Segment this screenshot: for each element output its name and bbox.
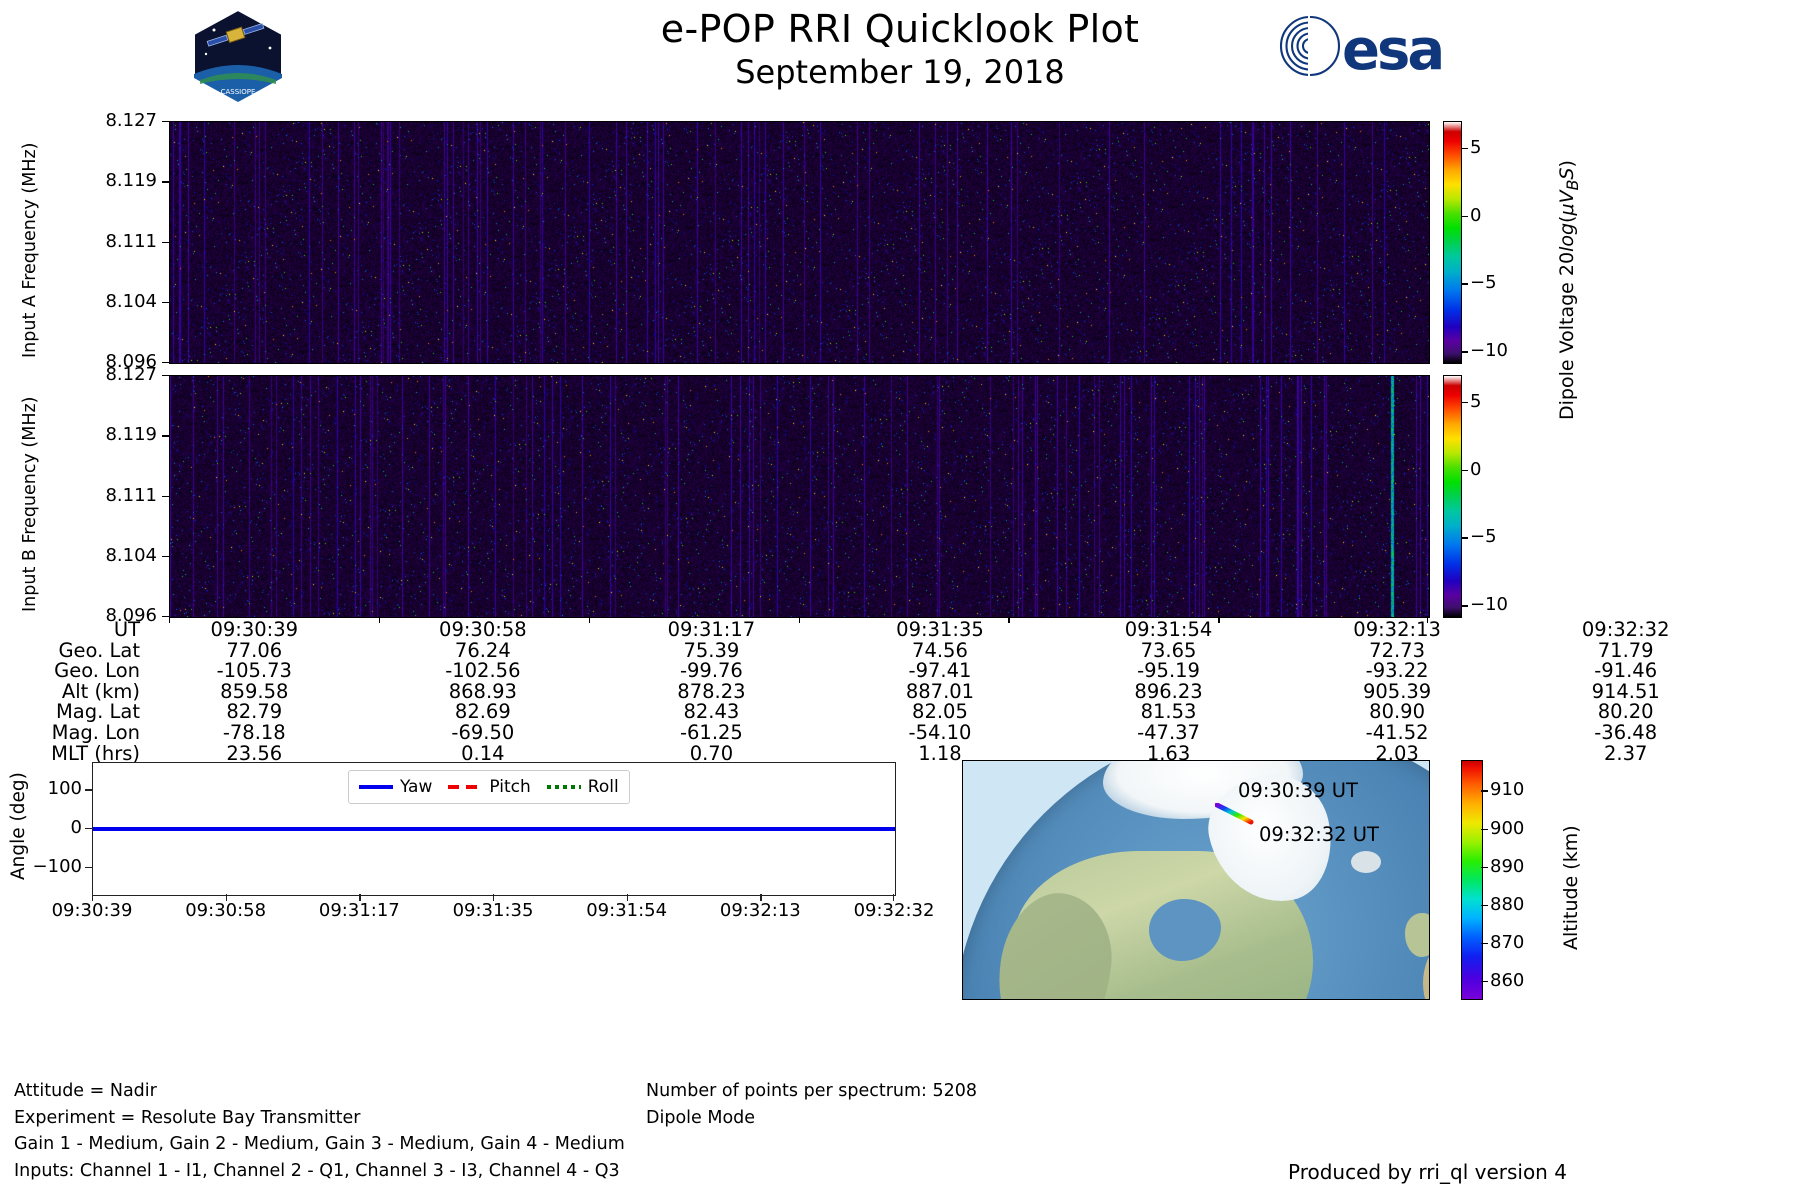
ephemeris-row-label: Mag. Lat [0,702,140,723]
ephemeris-cell: 914.51 [1511,682,1740,703]
ephemeris-cell: -102.56 [369,661,598,682]
voltage-colorbar-a [1443,121,1462,364]
iceland-landmass [1351,851,1381,873]
ephemeris-cell: 09:32:32 [1511,620,1740,641]
legend-label: Roll [588,777,619,797]
footer-produced-by: Produced by rri_ql version 4 [1288,1160,1567,1184]
y-tick-mark [162,616,169,617]
altitude-tick-label: 890 [1490,856,1524,877]
esa-wordmark: esa [1342,18,1442,83]
ephemeris-row-label: Geo. Lat [0,641,140,662]
altitude-tick-mark [1481,905,1488,906]
attitude-x-tick-label: 09:30:39 [27,900,157,921]
footer-attitude: Attitude = Nadir [14,1078,625,1105]
attitude-traces [93,825,895,833]
ephemeris-cell: 09:31:17 [597,620,826,641]
altitude-tick-label: 860 [1490,970,1524,991]
y-tick-mark [162,362,169,363]
ephemeris-row: Mag. Lat82.7982.6982.4382.0581.5380.9080… [0,702,1740,723]
ephemeris-cell: 82.79 [140,702,369,723]
legend-item: Roll [547,777,619,797]
spectrogram-b-panel [169,375,1430,618]
ephemeris-cell: -95.19 [1054,661,1283,682]
y-tick-mark [162,302,169,303]
ephemeris-row-label: UT [0,620,140,641]
attitude-x-tick-mark [893,894,894,901]
ephemeris-row: UT09:30:3909:30:5809:31:1709:31:3509:31:… [0,620,1740,641]
footer-gain: Gain 1 - Medium, Gain 2 - Medium, Gain 3… [14,1131,625,1158]
ephemeris-cell: -93.22 [1283,661,1512,682]
legend-swatch [448,785,482,789]
attitude-x-tick-label: 09:31:35 [428,900,558,921]
attitude-x-tick-mark [493,894,494,901]
legend-swatch [359,785,393,789]
ephemeris-cell: 878.23 [597,682,826,703]
british-isles-landmass [1405,913,1430,957]
altitude-tick-mark [1481,981,1488,982]
y-tick-label: 8.104 [85,545,157,566]
altitude-colorbar [1461,760,1483,1000]
ephemeris-row: Mag. Lon-78.18-69.50-61.25-54.10-47.37-4… [0,723,1740,744]
colorbar-tick-label: −5 [1470,526,1497,547]
altitude-tick-label: 900 [1490,818,1524,839]
ephemeris-cell: 09:32:13 [1283,620,1512,641]
footer-middle: Number of points per spectrum: 5208 Dipo… [646,1078,977,1131]
colorbar-tick-mark [1461,470,1468,471]
y-tick-mark [162,556,169,557]
ephemeris-row-label: Alt (km) [0,682,140,703]
satellite-ground-track [1215,803,1255,825]
ephemeris-row: Geo. Lat77.0676.2475.3974.5673.6572.7371… [0,641,1740,662]
attitude-y-tick-mark [85,828,92,829]
ephemeris-cell: 71.79 [1511,641,1740,662]
y-tick-mark [162,242,169,243]
globe-sphere [962,760,1430,1000]
voltage-colorbar-label: Dipole Voltage 20log(μVBS) [1556,160,1582,420]
colorbar-b-gradient [1444,376,1461,617]
ephemeris-cell: 77.06 [140,641,369,662]
attitude-y-tick-label: 0 [10,817,82,838]
ephemeris-cell: -97.41 [826,661,1055,682]
ephemeris-grid: UT09:30:3909:30:5809:31:1709:31:3509:31:… [0,620,1740,764]
altitude-tick-mark [1481,867,1488,868]
y-tick-label: 8.111 [85,485,157,506]
ephemeris-cell: 75.39 [597,641,826,662]
esa-swirl-icon [1278,14,1342,78]
ephemeris-cell: 76.24 [369,641,598,662]
colorbar-tick-label: −10 [1470,340,1508,361]
ephemeris-cell: -99.76 [597,661,826,682]
ground-track-map: 09:30:39 UT 09:32:32 UT [962,760,1430,1000]
altitude-colorbar-label: Altitude (km) [1560,825,1582,950]
ephemeris-cell: 72.73 [1283,641,1512,662]
esa-logo: esa [1278,14,1478,86]
ephemeris-cell: -47.37 [1054,723,1283,744]
ephemeris-cell: -91.46 [1511,661,1740,682]
altitude-tick-label: 880 [1490,894,1524,915]
colorbar-tick-label: −5 [1470,272,1497,293]
ephemeris-cell: -78.18 [140,723,369,744]
attitude-legend: YawPitchRoll [348,770,630,804]
attitude-x-tick-label: 09:32:32 [829,900,959,921]
ephemeris-cell: -69.50 [369,723,598,744]
attitude-x-tick-mark [627,894,628,901]
legend-item: Pitch [448,777,530,797]
legend-label: Pitch [489,777,530,797]
spectrogram-b-ylabel: Input B Frequency (MHz) [20,396,40,612]
altitude-tick-mark [1481,829,1488,830]
yaw-trace [93,827,895,831]
ephemeris-table: UT09:30:3909:30:5809:31:1709:31:3509:31:… [0,620,1740,764]
y-tick-label: 8.104 [85,291,157,312]
y-tick-label: 8.127 [85,110,157,131]
footer-points-per-spectrum: Number of points per spectrum: 5208 [646,1078,977,1105]
y-tick-label: 8.119 [85,424,157,445]
attitude-y-tick-mark [85,867,92,868]
ephemeris-row-label: Mag. Lon [0,723,140,744]
ephemeris-cell: 905.39 [1283,682,1512,703]
attitude-y-tick-label: −100 [10,856,82,877]
map-end-time-label: 09:32:32 UT [1259,823,1379,846]
y-tick-mark [162,435,169,436]
ephemeris-cell: 82.69 [369,702,598,723]
y-tick-mark [162,121,169,122]
ephemeris-row-label: Geo. Lon [0,661,140,682]
ephemeris-row: Alt (km)859.58868.93878.23887.01896.2390… [0,682,1740,703]
y-tick-label: 8.111 [85,231,157,252]
legend-item: Yaw [359,777,432,797]
footer-mode: Dipole Mode [646,1105,977,1132]
attitude-y-tick-mark [85,789,92,790]
altitude-tick-mark [1481,790,1488,791]
ephemeris-cell: 09:30:39 [140,620,369,641]
colorbar-tick-mark [1461,537,1468,538]
attitude-x-tick-label: 09:30:58 [161,900,291,921]
colorbar-tick-mark [1461,351,1468,352]
colorbar-tick-mark [1461,283,1468,284]
attitude-x-tick-label: 09:31:17 [294,900,424,921]
ephemeris-cell: 74.56 [826,641,1055,662]
ephemeris-cell: -41.52 [1283,723,1512,744]
ephemeris-cell: 09:30:58 [369,620,598,641]
y-tick-label: 8.127 [85,364,157,385]
altitude-tick-mark [1481,943,1488,944]
colorbar-tick-label: −10 [1470,594,1508,615]
spectrogram-b-image [170,376,1429,617]
svg-text:CASSIOPE: CASSIOPE [221,88,256,96]
ephemeris-cell: 82.05 [826,702,1055,723]
map-start-time-label: 09:30:39 UT [1238,779,1358,802]
footer-inputs: Inputs: Channel 1 - I1, Channel 2 - Q1, … [14,1158,625,1185]
ephemeris-cell: 896.23 [1054,682,1283,703]
ephemeris-cell: 2.37 [1511,744,1740,765]
ephemeris-cell: 09:31:35 [826,620,1055,641]
ephemeris-cell: 80.20 [1511,702,1740,723]
ephemeris-cell: -36.48 [1511,723,1740,744]
ephemeris-cell: 09:31:54 [1054,620,1283,641]
attitude-x-tick-mark [760,894,761,901]
ephemeris-cell: 887.01 [826,682,1055,703]
cassiope-mission-logo-icon: CASSIOPE [190,8,286,104]
attitude-x-tick-label: 09:31:54 [562,900,692,921]
ephemeris-cell: 80.90 [1283,702,1512,723]
ephemeris-cell: 859.58 [140,682,369,703]
altitude-colorbar-gradient [1462,761,1482,999]
attitude-x-tick-mark [92,894,93,901]
footer-experiment: Experiment = Resolute Bay Transmitter [14,1105,625,1132]
colorbar-tick-label: 0 [1470,459,1481,480]
y-tick-mark [162,496,169,497]
ephemeris-cell: -61.25 [597,723,826,744]
colorbar-tick-mark [1461,605,1468,606]
attitude-x-tick-mark [359,894,360,901]
y-tick-mark [162,375,169,376]
legend-swatch [547,785,581,789]
attitude-x-tick-label: 09:32:13 [695,900,825,921]
altitude-tick-label: 910 [1490,779,1524,800]
attitude-y-tick-label: 100 [10,778,82,799]
altitude-tick-label: 870 [1490,932,1524,953]
colorbar-tick-label: 5 [1470,391,1481,412]
attitude-x-tick-mark [226,894,227,901]
colorbar-tick-label: 0 [1470,205,1481,226]
spectrogram-a-ylabel: Input A Frequency (MHz) [20,143,40,358]
ephemeris-cell: 81.53 [1054,702,1283,723]
colorbar-a-gradient [1444,122,1461,363]
ephemeris-row: Geo. Lon-105.73-102.56-99.76-97.41-95.19… [0,661,1740,682]
ephemeris-cell: 868.93 [369,682,598,703]
colorbar-tick-mark [1461,402,1468,403]
y-tick-mark [162,181,169,182]
colorbar-tick-label: 5 [1470,137,1481,158]
y-tick-label: 8.119 [85,170,157,191]
voltage-colorbar-b [1443,375,1462,618]
ephemeris-cell: 82.43 [597,702,826,723]
spectrogram-a-panel [169,121,1430,364]
colorbar-tick-mark [1461,216,1468,217]
ephemeris-cell: -105.73 [140,661,369,682]
legend-label: Yaw [400,777,432,797]
colorbar-tick-mark [1461,148,1468,149]
ephemeris-cell: 73.65 [1054,641,1283,662]
ephemeris-cell: -54.10 [826,723,1055,744]
footer-left: Attitude = Nadir Experiment = Resolute B… [14,1078,625,1184]
spectrogram-a-image [170,122,1429,363]
